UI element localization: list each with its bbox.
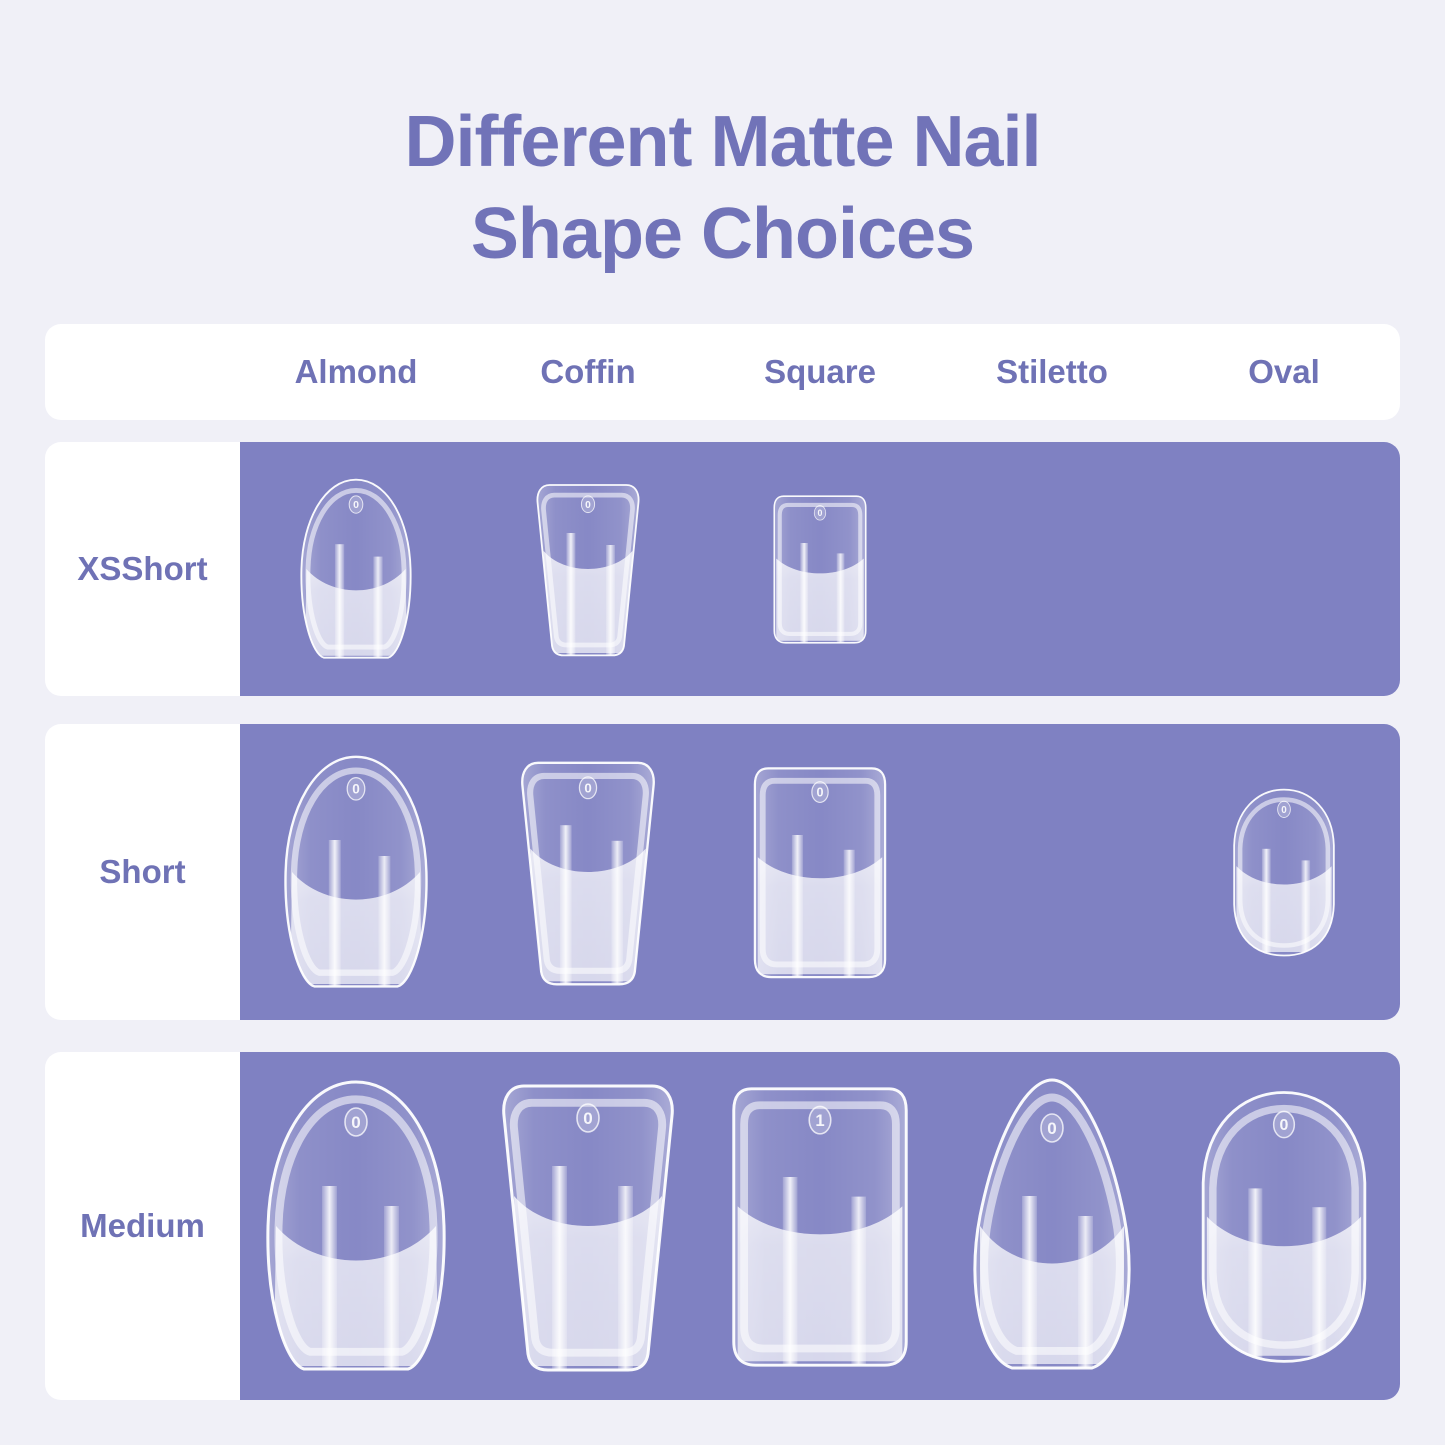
svg-text:0: 0 [585,500,591,511]
nail-highlight-left [552,1166,567,1376]
nail-cell-almond-xs: 0 [240,442,472,696]
nail-cell-oval-short: 0 [1168,724,1400,1020]
nail-tip-stiletto: 0 [952,1076,1152,1376]
page-title-line-1: Different Matte Nail [0,96,1445,188]
nail-cell-stiletto-medium: 0 [936,1052,1168,1400]
nail-cell-almond-medium: 0 [240,1052,472,1400]
size-row-label: XSShort [45,442,240,696]
svg-text:0: 0 [351,1113,360,1132]
nail-cell-coffin-xs: 0 [472,442,704,696]
nail-highlight-left [560,825,572,989]
nail-tip-almond: 0 [276,752,436,992]
nail-size-stamp: 0 [1041,1114,1063,1142]
infographic-page: Different Matte Nail Shape Choices Almon… [0,0,1445,1445]
size-row-xs: XSShort [45,442,1400,696]
svg-text:0: 0 [1047,1119,1056,1138]
nail-tip-coffin: 0 [528,479,648,659]
shape-header-almond: Almond [240,324,472,420]
nail-tip-coffin: 0 [488,1076,688,1376]
nail-cell-coffin-short: 0 [472,724,704,1020]
nail-size-stamp: 0 [345,1108,367,1136]
size-row-medium: Medium [45,1052,1400,1400]
nail-tip-square: 1 [722,1079,918,1373]
nail-tip-coffin: 0 [510,755,666,989]
nail-cell-square-medium: 1 [704,1052,936,1400]
nail-highlight-left [329,840,341,992]
nail-highlight-left [792,835,803,983]
shape-header-coffin: Coffin [472,324,704,420]
nail-tip-oval: 0 [1190,1085,1378,1367]
nail-cell-oval-medium: 0 [1168,1052,1400,1400]
nail-size-stamp: 0 [577,1104,599,1132]
nail-size-stamp: 0 [349,496,363,513]
nail-tip-almond: 0 [256,1076,456,1376]
size-row-label: Short [45,724,240,1020]
svg-text:0: 0 [817,786,824,800]
svg-text:0: 0 [818,508,823,518]
nail-cell-almond-short: 0 [240,724,472,1020]
nail-size-stamp: 0 [812,782,828,803]
svg-text:0: 0 [352,782,360,797]
nail-size-stamp: 0 [1274,1111,1295,1137]
shape-header-oval: Oval [1168,324,1400,420]
nail-highlight-left [566,533,575,659]
svg-text:0: 0 [353,499,359,511]
nail-size-stamp: 0 [1278,801,1291,817]
size-row-panel: 0 [240,1052,1400,1400]
nail-highlight-left [335,544,344,662]
nail-cell-square-short: 0 [704,724,936,1020]
svg-text:0: 0 [1281,805,1287,816]
nail-size-stamp: 0 [347,778,365,800]
nail-size-stamp: 0 [579,777,596,799]
size-row-label-line-1: XS [77,547,121,592]
size-row-panel: 0 [240,724,1400,1020]
nail-size-stamp: 0 [581,496,594,513]
size-row-label-line-2: Short [121,547,207,592]
nail-tip-square: 0 [768,491,872,647]
nail-size-stamp: 1 [809,1106,831,1133]
shape-header-square: Square [704,324,936,420]
size-row-panel: 0 [240,442,1400,696]
nail-highlight-left [322,1186,337,1376]
size-row-label: Medium [45,1052,240,1400]
svg-text:0: 0 [1280,1117,1289,1134]
svg-text:0: 0 [583,1109,592,1128]
nail-highlight-left [800,543,808,647]
nail-size-stamp: 0 [814,506,825,521]
shape-column-headers: AlmondCoffinSquareStilettoOval [240,324,1400,420]
nail-cell-square-xs: 0 [704,442,936,696]
nail-tip-almond: 0 [294,476,418,662]
svg-text:0: 0 [584,780,591,795]
shape-header-stiletto: Stiletto [936,324,1168,420]
nail-tip-square: 0 [746,761,894,983]
nail-cell-coffin-medium: 0 [472,1052,704,1400]
svg-text:1: 1 [815,1111,824,1130]
page-title-line-2: Shape Choices [0,188,1445,280]
shape-header-card: AlmondCoffinSquareStilettoOval [45,324,1400,420]
header-corner-spacer [45,324,240,420]
size-row-short: Short [45,724,1400,1020]
nail-tip-oval: 0 [1226,785,1342,959]
nail-highlight-left [783,1177,798,1373]
page-title: Different Matte Nail Shape Choices [0,96,1445,280]
